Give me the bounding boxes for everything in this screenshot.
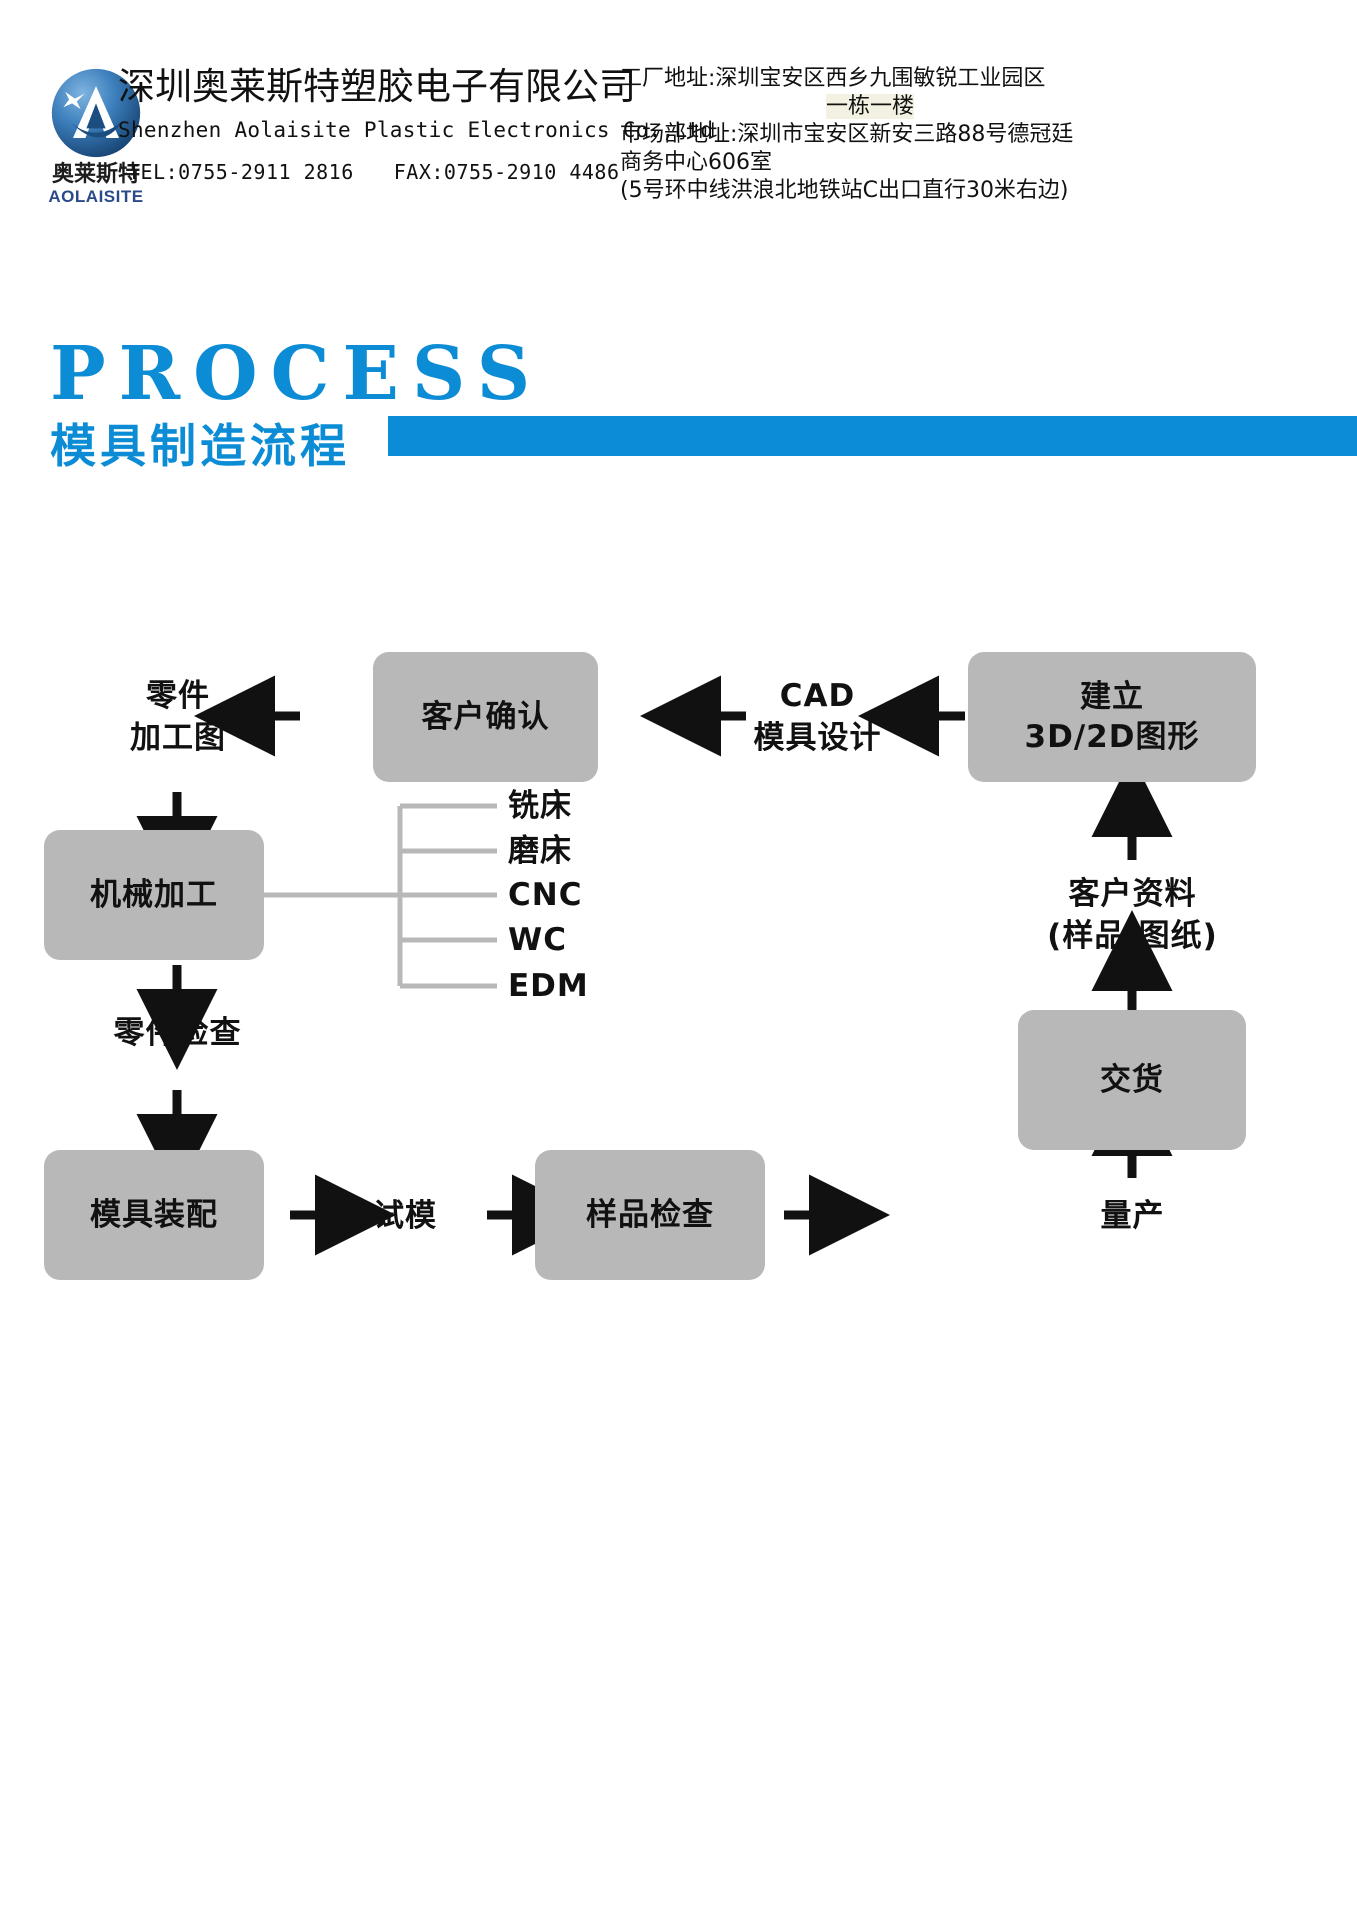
market-address-line-3: (5号环中线洪浪北地铁站C出口直行30米右边) [620,177,1120,205]
flow-node-partcheck: 零件检查 [60,1005,295,1060]
flow-node-delivery[interactable]: 交货 [1018,1010,1246,1150]
flow-operation-wc-label: WC [508,922,567,958]
flow-node-samplecheck-label: 样品检查 [586,1195,714,1235]
company-name-en: Shenzhen Aolaisite Plastic Electronics C… [118,115,618,145]
flow-node-confirm[interactable]: 客户确认 [373,652,598,782]
flow-operation-milling-label: 铣床 [508,788,572,824]
title-accent-bar [388,416,1357,456]
company-addresses: 工厂地址:深圳宝安区西乡九围敏锐工业园区 一栋一楼 市场部地址:深圳市宝安区新安… [620,65,1120,205]
company-identity: 深圳奥莱斯特塑胶电子有限公司 Shenzhen Aolaisite Plasti… [118,65,618,187]
flow-node-massprod: 量产 [1060,1188,1205,1243]
company-fax: FAX:0755-2910 4486 [394,160,620,184]
flow-node-cad: CAD 模具设计 [700,652,935,782]
flow-node-partdraw: 零件 加工图 [78,652,278,782]
flow-operation-milling: 铣床 [508,786,572,826]
flow-operation-grinding: 磨床 [508,831,572,871]
page-title-cn: 模具制造流程 [50,418,350,474]
flow-node-machining[interactable]: 机械加工 [44,830,264,960]
section-title: PROCESS 模具制造流程 [0,320,1357,480]
page-header: 奥莱斯特 AOLAISITE 深圳奥莱斯特塑胶电子有限公司 Shenzhen A… [0,55,1357,220]
process-flowchart: 建立 3D/2D图形 CAD 模具设计 客户确认 零件 加工图 机械加工 零件检… [0,620,1357,1360]
flow-operation-wc: WC [508,920,567,960]
flow-operation-grinding-label: 磨床 [508,833,572,869]
flow-operation-edm-label: EDM [508,968,589,1004]
flow-node-custdata-label: 客户资料 (样品/图纸) [1047,873,1218,957]
flow-node-trial: 试模 [340,1188,470,1243]
process-flyer-page: 奥莱斯特 AOLAISITE 深圳奥莱斯特塑胶电子有限公司 Shenzhen A… [0,0,1357,1920]
flow-operation-cnc-label: CNC [508,877,582,913]
market-address-line-1: 市场部地址:深圳市宝安区新安三路88号德冠廷 [620,121,1120,149]
logo-brand-en: AOLAISITE [36,187,156,207]
flow-node-massprod-label: 量产 [1101,1195,1165,1237]
flow-operation-cnc: CNC [508,875,582,915]
flow-node-confirm-label: 客户确认 [422,697,550,737]
company-tel: TEL:0755-2911 2816 [128,160,354,184]
flow-node-partcheck-label: 零件检查 [114,1012,242,1054]
flow-node-delivery-label: 交货 [1100,1060,1164,1100]
flow-node-assembly[interactable]: 模具装配 [44,1150,264,1280]
flow-node-build3d[interactable]: 建立 3D/2D图形 [968,652,1256,782]
flow-node-cad-label: CAD 模具设计 [754,675,882,759]
flow-node-assembly-label: 模具装配 [90,1195,218,1235]
flow-node-samplecheck[interactable]: 样品检查 [535,1150,765,1280]
flow-node-trial-label: 试模 [373,1195,437,1237]
flow-node-build3d-label: 建立 3D/2D图形 [1025,677,1200,757]
market-address-line-2: 商务中心606室 [620,149,1120,177]
factory-address-line-2: 一栋一楼 [826,94,914,119]
page-title-en: PROCESS [50,335,543,413]
flow-operation-edm: EDM [508,966,589,1006]
flow-node-custdata: 客户资料 (样品/图纸) [1000,865,1265,965]
factory-address-line-1: 工厂地址:深圳宝安区西乡九围敏锐工业园区 [620,65,1120,93]
flow-node-partdraw-label: 零件 加工图 [130,675,226,759]
company-contact-line: TEL:0755-2911 2816FAX:0755-2910 4486 [128,157,618,187]
company-name-cn: 深圳奥莱斯特塑胶电子有限公司 [118,65,618,109]
flow-node-machining-label: 机械加工 [90,875,218,915]
